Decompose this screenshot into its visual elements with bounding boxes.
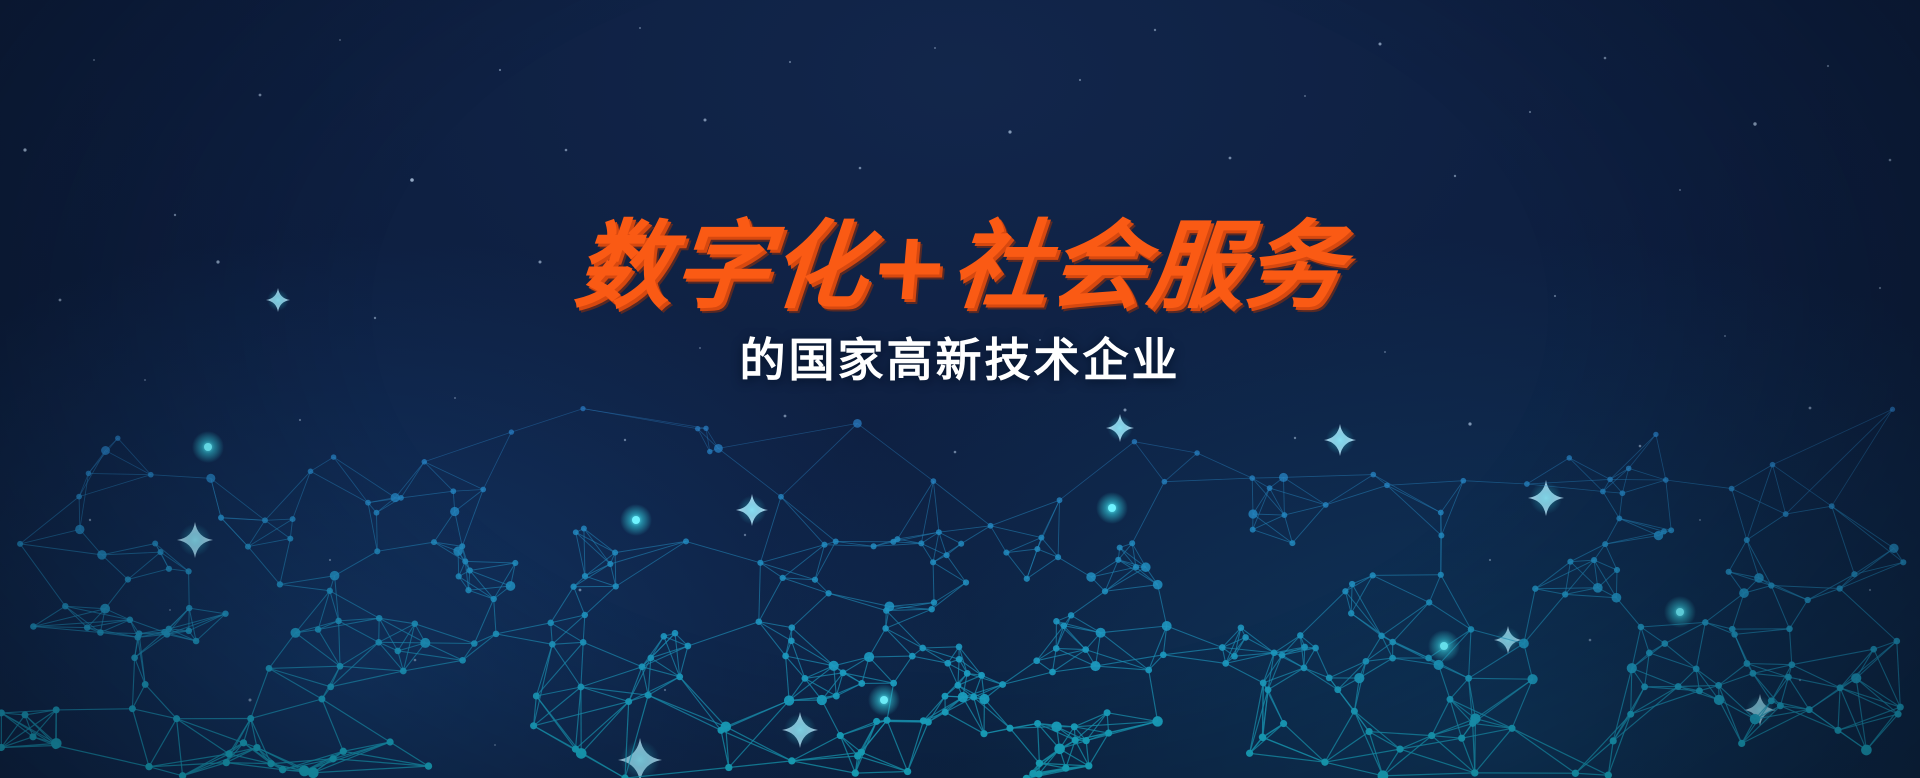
mesh-edge xyxy=(1629,468,1666,480)
mesh-node xyxy=(942,693,949,700)
mesh-node xyxy=(245,544,251,550)
mesh-edge xyxy=(1325,762,1383,776)
mesh-node xyxy=(157,549,163,555)
mesh-node xyxy=(829,661,839,671)
mesh-node xyxy=(1162,621,1172,631)
mesh-edge xyxy=(886,611,922,648)
mesh-edge xyxy=(1429,575,1441,603)
mesh-node xyxy=(1249,475,1255,481)
mesh-edge xyxy=(933,481,939,532)
mesh-edge xyxy=(1284,724,1325,763)
mesh-edge xyxy=(1719,685,1742,743)
mesh-edge xyxy=(331,671,404,687)
mesh-node xyxy=(1438,572,1444,578)
mesh-node xyxy=(266,665,273,672)
mesh-node xyxy=(1894,638,1901,645)
mesh-edge xyxy=(786,656,790,701)
mesh-node xyxy=(979,694,989,704)
mesh-edge xyxy=(616,541,686,586)
mesh-edge xyxy=(948,663,958,685)
mesh-node xyxy=(471,640,478,647)
mesh-edge xyxy=(322,699,343,751)
mesh-edge xyxy=(792,593,829,627)
mesh-edge xyxy=(1641,627,1649,653)
mesh-edge xyxy=(33,606,65,626)
mesh-edge xyxy=(1832,506,1855,574)
mesh-node xyxy=(1029,770,1036,777)
mesh-node xyxy=(179,772,186,778)
mesh-edge xyxy=(1840,589,1897,642)
mesh-node xyxy=(148,472,154,478)
mesh-edge xyxy=(265,519,293,520)
mesh-node xyxy=(837,732,844,739)
mesh-edge xyxy=(1616,598,1641,627)
mesh-node xyxy=(607,561,613,567)
mesh-node xyxy=(1053,645,1060,652)
mesh-node xyxy=(782,653,789,660)
mesh-edge xyxy=(280,584,330,590)
mesh-node xyxy=(225,750,232,757)
mesh-node xyxy=(136,630,143,637)
mesh-node xyxy=(161,629,168,636)
mesh-node xyxy=(1280,720,1287,727)
mesh-edge xyxy=(102,555,128,580)
mesh-edge xyxy=(1222,628,1241,648)
mesh-edge xyxy=(1649,653,1696,669)
mesh-node xyxy=(625,698,632,705)
mesh-node xyxy=(714,444,723,453)
mesh-node xyxy=(1384,482,1390,488)
mesh-edge xyxy=(857,423,933,481)
mesh-node xyxy=(1348,610,1354,616)
mesh-edge xyxy=(1164,478,1252,482)
mesh-edge xyxy=(939,526,991,532)
mesh-node xyxy=(833,693,840,700)
mesh-edge xyxy=(339,621,340,666)
mesh-node xyxy=(253,744,260,751)
mesh-node xyxy=(1083,737,1090,744)
mesh-edge xyxy=(251,719,257,748)
mesh-edge xyxy=(718,448,781,496)
mesh-edge xyxy=(379,618,380,642)
mesh-edge xyxy=(581,667,642,687)
mesh-node xyxy=(318,696,325,703)
mesh-node xyxy=(871,543,877,549)
mesh-node xyxy=(75,525,84,534)
mesh-edge xyxy=(118,438,151,475)
mesh-node xyxy=(459,543,465,549)
mesh-node xyxy=(757,560,763,566)
mesh-node xyxy=(315,626,322,633)
mesh-node xyxy=(1616,515,1622,521)
mesh-node xyxy=(1607,477,1613,483)
mesh-node xyxy=(883,607,889,613)
mesh-edge xyxy=(1808,589,1840,601)
mesh-node xyxy=(1460,478,1466,484)
mesh-node xyxy=(1837,684,1844,691)
mesh-node xyxy=(1870,646,1877,653)
mesh-node xyxy=(1726,569,1732,575)
mesh-node xyxy=(1279,473,1288,482)
mesh-edge xyxy=(894,656,913,683)
mesh-node xyxy=(1312,645,1319,652)
mesh-edge xyxy=(1512,728,1608,775)
mesh-node xyxy=(1281,512,1287,518)
mesh-edge xyxy=(334,457,368,503)
mesh-node xyxy=(936,529,942,535)
mesh-edge xyxy=(615,553,616,587)
mesh-edge xyxy=(759,622,786,656)
mesh-node xyxy=(506,581,516,591)
mesh-edge xyxy=(1535,562,1570,589)
mesh-node xyxy=(186,605,192,611)
mesh-edge xyxy=(149,719,177,767)
mesh-node xyxy=(450,507,459,516)
mesh-node xyxy=(672,630,679,637)
mesh-node xyxy=(1396,745,1403,752)
mesh-edge xyxy=(1441,575,1471,630)
mesh-node xyxy=(1626,466,1632,472)
mesh-node xyxy=(222,610,228,616)
mesh-edge xyxy=(280,576,335,585)
mesh-edge xyxy=(1304,648,1316,668)
mesh-edge xyxy=(1832,506,1894,548)
mesh-edge xyxy=(1096,666,1149,670)
mesh-node xyxy=(1524,481,1530,487)
mesh-edge xyxy=(923,647,959,648)
mesh-node xyxy=(1519,638,1529,648)
mesh-node xyxy=(1469,720,1476,727)
mesh-node xyxy=(582,573,588,579)
mesh-edge xyxy=(106,451,151,475)
mesh-edge xyxy=(583,642,642,667)
mesh-node xyxy=(883,717,890,724)
mesh-node xyxy=(1572,770,1579,777)
mesh-edge xyxy=(1134,442,1164,482)
mesh-edge xyxy=(610,541,686,564)
mesh-edge xyxy=(311,471,369,502)
mesh-edge xyxy=(1732,489,1747,540)
mesh-edge xyxy=(1608,714,1630,775)
mesh-edge xyxy=(1432,736,1462,739)
mesh-edge xyxy=(1354,711,1400,749)
mesh-node xyxy=(52,742,59,749)
mesh-edge xyxy=(815,545,825,580)
mesh-node xyxy=(963,579,969,585)
mesh-node xyxy=(1053,618,1059,624)
mesh-edge xyxy=(1665,644,1696,669)
mesh-node xyxy=(676,673,683,680)
mesh-node xyxy=(1591,557,1597,563)
mesh-edge xyxy=(1512,728,1575,773)
mesh-node xyxy=(465,587,471,593)
mesh-node xyxy=(1783,511,1789,517)
mesh-edge xyxy=(1197,453,1252,478)
mesh-node xyxy=(335,618,341,624)
mesh-node xyxy=(570,584,576,590)
mesh-edge xyxy=(1373,575,1441,576)
mesh-node xyxy=(958,692,968,702)
mesh-edge xyxy=(1134,442,1197,453)
mesh-edge xyxy=(496,623,551,634)
mesh-edge xyxy=(1569,458,1610,480)
mesh-node xyxy=(1425,655,1432,662)
mesh-node xyxy=(462,558,468,564)
mesh-node xyxy=(412,620,419,627)
mesh-node xyxy=(206,474,215,483)
mesh-node xyxy=(299,766,310,777)
mesh-edge xyxy=(1003,661,1037,685)
mesh-node xyxy=(420,638,430,648)
mesh-node xyxy=(580,639,587,646)
mesh-node xyxy=(1567,455,1573,461)
mesh-edge xyxy=(269,668,322,699)
mesh-edge xyxy=(1840,688,1898,714)
mesh-node xyxy=(1754,573,1764,583)
mesh-edge xyxy=(455,512,463,547)
mesh-node xyxy=(291,628,301,638)
mesh-node xyxy=(1271,649,1278,656)
mesh-edge xyxy=(760,563,782,578)
mesh-edge xyxy=(1788,677,1840,688)
mesh-edge xyxy=(991,526,1042,538)
mesh-edge xyxy=(576,532,615,552)
mesh-node xyxy=(1038,535,1044,541)
mesh-edge xyxy=(453,490,483,492)
mesh-edge xyxy=(1463,481,1527,484)
mesh-node xyxy=(279,766,286,773)
mesh-node xyxy=(1085,762,1092,769)
mesh-node xyxy=(1895,711,1902,718)
mesh-node xyxy=(1051,721,1062,732)
mesh-edge xyxy=(1300,591,1345,635)
mesh-edge xyxy=(1678,685,1718,686)
mesh-edge xyxy=(494,599,496,634)
mesh-edge xyxy=(251,699,322,719)
mesh-node xyxy=(1600,489,1606,495)
mesh-edge xyxy=(293,471,311,519)
mesh-node xyxy=(1738,740,1745,747)
mesh-node xyxy=(1378,633,1385,640)
mesh-node xyxy=(858,680,865,687)
mesh-node xyxy=(788,757,795,764)
mesh-edge xyxy=(947,555,966,582)
mesh-node xyxy=(1096,628,1106,638)
mesh-node xyxy=(613,583,619,589)
mesh-node xyxy=(661,633,668,640)
mesh-edge xyxy=(686,541,760,562)
mesh-edge xyxy=(1089,733,1109,766)
mesh-node xyxy=(1786,626,1793,633)
mesh-node xyxy=(1055,554,1061,560)
mesh-node xyxy=(1527,674,1537,684)
mesh-node xyxy=(1471,769,1478,776)
mesh-edge xyxy=(1524,644,1533,680)
mesh-node xyxy=(1744,537,1750,543)
mesh-node xyxy=(1768,697,1775,704)
mesh-edge xyxy=(145,684,176,718)
mesh-node xyxy=(1104,709,1111,716)
mesh-node xyxy=(1714,695,1724,705)
mesh-edge xyxy=(1252,478,1284,515)
mesh-edge xyxy=(1284,477,1285,515)
mesh-edge xyxy=(1565,594,1616,597)
mesh-edge xyxy=(1351,575,1373,613)
mesh-edge xyxy=(933,532,939,562)
mesh-node xyxy=(573,529,579,535)
mesh-edge xyxy=(151,475,211,479)
mesh-edge xyxy=(335,551,378,575)
mesh-edge xyxy=(1469,678,1533,679)
mesh-node xyxy=(928,606,934,612)
mesh-node xyxy=(376,615,382,621)
mesh-node xyxy=(129,705,136,712)
mesh-edge xyxy=(20,544,65,606)
mesh-node xyxy=(1458,735,1465,742)
mesh-edge xyxy=(1262,724,1283,738)
mesh-node xyxy=(277,581,283,587)
mesh-edge xyxy=(401,491,453,498)
mesh-node xyxy=(964,670,971,677)
mesh-node xyxy=(1702,619,1709,626)
mesh-edge xyxy=(1705,593,1744,622)
mesh-node xyxy=(1837,585,1843,591)
mesh-node xyxy=(1219,644,1226,651)
mesh-edge xyxy=(984,699,1010,728)
mesh-node xyxy=(707,449,713,455)
mesh-edge xyxy=(20,544,102,555)
mesh-node xyxy=(1289,540,1295,546)
mesh-node xyxy=(1378,770,1389,778)
mesh-edge xyxy=(923,648,959,659)
mesh-node xyxy=(97,629,104,636)
mesh-node xyxy=(1627,711,1634,718)
mesh-node xyxy=(115,435,120,440)
mesh-edge xyxy=(269,666,340,668)
mesh-edge xyxy=(1535,589,1565,595)
mesh-edge xyxy=(1535,588,1598,589)
mesh-node xyxy=(400,668,407,675)
mesh-node xyxy=(374,510,380,516)
mesh-edge xyxy=(1071,591,1105,615)
mesh-node xyxy=(1693,666,1700,673)
mesh-edge xyxy=(1387,485,1441,535)
mesh-edge xyxy=(1252,478,1253,514)
mesh-edge xyxy=(132,684,145,708)
mesh-node xyxy=(1567,559,1573,565)
mesh-node xyxy=(223,759,230,766)
mesh-node xyxy=(1342,588,1348,594)
mesh-edge xyxy=(1284,505,1325,515)
mesh-node xyxy=(695,426,700,431)
mesh-edge xyxy=(551,623,584,643)
mesh-edge xyxy=(56,746,149,767)
mesh-edge xyxy=(304,742,390,771)
mesh-edge xyxy=(1006,553,1026,579)
mesh-edge xyxy=(1163,648,1222,655)
mesh-node xyxy=(29,733,36,740)
mesh-node xyxy=(1638,624,1645,631)
mesh-edge xyxy=(648,695,721,730)
mesh-edge xyxy=(1696,669,1718,686)
mesh-edge xyxy=(1120,548,1146,568)
mesh-node xyxy=(1102,588,1108,594)
mesh-node xyxy=(1612,593,1622,603)
mesh-node xyxy=(1242,634,1249,641)
mesh-node xyxy=(1057,497,1063,503)
mesh-edge xyxy=(583,615,585,642)
mesh-node xyxy=(931,599,937,605)
mesh-node xyxy=(62,603,68,609)
mesh-edge xyxy=(581,642,583,687)
mesh-node xyxy=(287,536,293,542)
mesh-edge xyxy=(183,748,257,776)
banner-subtitle: 的国家高新技术企业 xyxy=(0,332,1920,388)
mesh-edge xyxy=(829,593,890,606)
mesh-edge xyxy=(760,545,824,563)
mesh-node xyxy=(909,653,916,660)
mesh-edge xyxy=(1439,665,1450,699)
mesh-edge xyxy=(318,630,340,667)
mesh-edge xyxy=(105,580,128,609)
mesh-edge xyxy=(1475,719,1476,773)
mesh-node xyxy=(512,560,518,566)
mesh-edge xyxy=(829,593,887,610)
mesh-edge xyxy=(1325,732,1369,763)
mesh-node xyxy=(1321,759,1328,766)
mesh-edge xyxy=(1164,453,1197,482)
mesh-edge xyxy=(1053,648,1057,672)
mesh-edge xyxy=(1619,493,1622,518)
mesh-node xyxy=(1246,750,1253,757)
mesh-edge xyxy=(680,677,726,727)
mesh-edge xyxy=(1354,711,1383,776)
mesh-edge xyxy=(1382,602,1430,635)
mesh-edge xyxy=(581,687,648,695)
mesh-edge xyxy=(781,423,857,496)
mesh-node xyxy=(1654,531,1663,540)
mesh-edge xyxy=(1792,649,1874,665)
mesh-edge xyxy=(296,633,341,666)
mesh-edge xyxy=(1027,557,1058,579)
mesh-node xyxy=(1334,686,1341,693)
mesh-edge xyxy=(1603,492,1623,494)
mesh-edge xyxy=(581,687,629,702)
mesh-edge xyxy=(886,628,923,648)
mesh-edge xyxy=(474,599,493,644)
mesh-edge xyxy=(1027,538,1042,579)
banner-text-block: 数字化+社会服务 的国家高新技术企业 xyxy=(0,214,1920,388)
mesh-node xyxy=(509,429,514,434)
mesh-edge xyxy=(1429,602,1471,629)
mesh-edge xyxy=(625,768,729,778)
mesh-edge xyxy=(933,562,966,582)
mesh-edge xyxy=(1666,480,1671,530)
mesh-node xyxy=(780,575,786,581)
mesh-edge xyxy=(822,700,841,736)
mesh-node xyxy=(812,577,818,583)
mesh-edge xyxy=(248,520,265,546)
mesh-edge xyxy=(1393,602,1430,642)
mesh-edge xyxy=(1719,673,1753,685)
mesh-edge xyxy=(56,709,132,710)
mesh-node xyxy=(1696,687,1703,694)
mesh-edge xyxy=(1759,578,1808,600)
mesh-node xyxy=(1259,734,1266,741)
mesh-edge xyxy=(1167,626,1223,648)
mesh-edge xyxy=(265,471,311,520)
mesh-edge xyxy=(1735,629,1790,635)
